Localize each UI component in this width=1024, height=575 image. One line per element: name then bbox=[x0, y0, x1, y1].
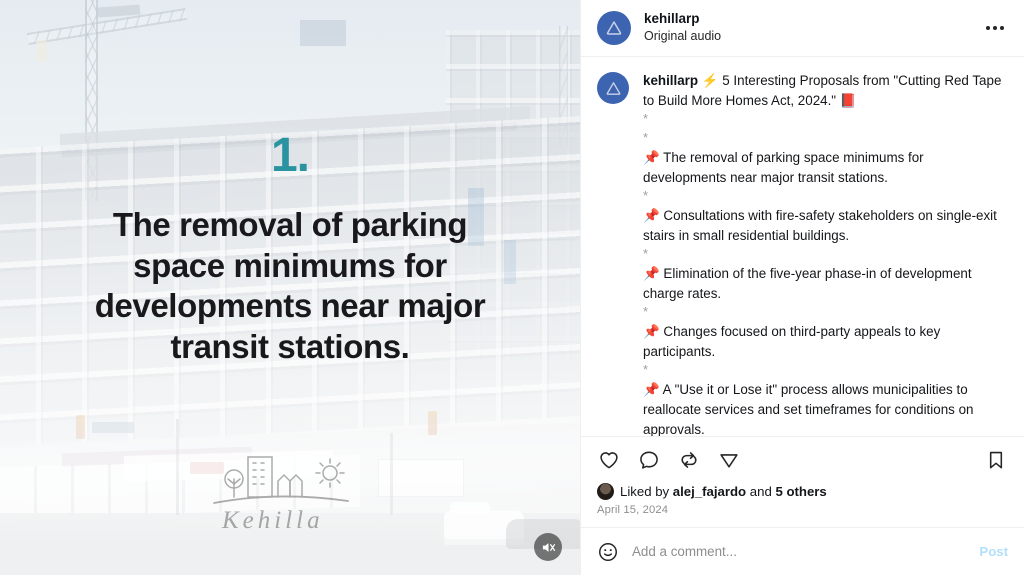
caption-row: kehillarp ⚡ 5 Interesting Proposals from… bbox=[597, 71, 1008, 436]
post-date: April 15, 2024 bbox=[597, 504, 1008, 516]
caption-bullet-2: 📌 Consultations with fire-safety stakeho… bbox=[643, 206, 1008, 245]
caption-bullet-5: 📌 A "Use it or Lose it" process allows m… bbox=[643, 380, 1008, 436]
likes-row: Liked by alej_fajardo and 5 others bbox=[597, 483, 1008, 500]
caption-bullet-1: 📌 The removal of parking space minimums … bbox=[643, 148, 1008, 187]
likes-conjunction: and bbox=[750, 484, 772, 499]
overlay-line-4: transit stations. bbox=[171, 328, 410, 365]
caption-bullet-3: 📌 Elimination of the five-year phase-in … bbox=[643, 264, 1008, 303]
caption-bullet-3-text: Elimination of the five-year phase-in of… bbox=[643, 266, 972, 301]
caption-sep-2: * bbox=[643, 129, 1008, 148]
post-media[interactable]: 1. The removal of parking space minimums… bbox=[0, 0, 580, 575]
post-header: kehillarp Original audio bbox=[581, 0, 1024, 57]
caption-sep-5: * bbox=[643, 303, 1008, 322]
speaker-muted-icon[interactable] bbox=[534, 533, 562, 561]
heart-icon[interactable] bbox=[597, 448, 621, 472]
caption-sep-3: * bbox=[643, 187, 1008, 206]
comment-composer: Post bbox=[581, 527, 1024, 575]
overlay-line-2: space minimums for bbox=[133, 247, 447, 284]
header-audio-label: Original audio bbox=[644, 29, 982, 45]
street-name-sign bbox=[92, 422, 134, 433]
header-text-block: kehillarp Original audio bbox=[644, 11, 982, 45]
caption-bullet-2-text: Consultations with fire-safety stakehold… bbox=[643, 208, 997, 243]
caption-intro-end-emoji: 📕 bbox=[840, 93, 857, 108]
overlay-line-3: developments near major bbox=[95, 287, 486, 324]
pin-icon-3: 📌 bbox=[643, 266, 660, 281]
overlay-line-1: The removal of parking bbox=[113, 206, 467, 243]
caption-text: kehillarp ⚡ 5 Interesting Proposals from… bbox=[643, 71, 1008, 436]
caption-username[interactable]: kehillarp bbox=[643, 73, 698, 88]
caption-intro-emoji: ⚡ bbox=[702, 73, 719, 88]
traffic-pole-right bbox=[390, 433, 393, 515]
caption-scroll-area[interactable]: kehillarp ⚡ 5 Interesting Proposals from… bbox=[581, 57, 1024, 436]
traffic-light-left bbox=[76, 415, 85, 439]
pin-icon-5: 📌 bbox=[643, 382, 660, 397]
pin-icon-1: 📌 bbox=[643, 150, 660, 165]
emoji-smiley-icon[interactable] bbox=[597, 541, 619, 563]
post-comment-button[interactable]: Post bbox=[979, 544, 1008, 559]
traffic-pole-left bbox=[176, 419, 179, 515]
overlay-number: 1. bbox=[0, 132, 580, 180]
caption-bullet-5-text: A "Use it or Lose it" process allows mun… bbox=[643, 382, 973, 436]
traffic-light-right bbox=[428, 411, 437, 435]
comment-bubble-icon[interactable] bbox=[637, 448, 661, 472]
action-icons bbox=[597, 448, 1008, 472]
caption-sep-1: * bbox=[643, 110, 1008, 129]
pin-icon-2: 📌 bbox=[643, 208, 660, 223]
bookmark-icon[interactable] bbox=[984, 448, 1008, 472]
more-options-icon[interactable] bbox=[982, 15, 1008, 41]
header-username[interactable]: kehillarp bbox=[644, 11, 982, 28]
caption-sep-4: * bbox=[643, 245, 1008, 264]
overlay-headline: The removal of parking space minimums fo… bbox=[42, 205, 538, 367]
caption-bullet-4-text: Changes focused on third-party appeals t… bbox=[643, 324, 940, 359]
caption-avatar-icon[interactable] bbox=[597, 72, 629, 104]
pin-icon-4: 📌 bbox=[643, 324, 660, 339]
post-side-panel: kehillarp Original audio kehillarp ⚡ 5 I… bbox=[580, 0, 1024, 575]
likes-username[interactable]: alej_fajardo bbox=[673, 484, 746, 499]
tarp-c bbox=[300, 20, 346, 46]
action-bar: Liked by alej_fajardo and 5 others April… bbox=[581, 436, 1024, 516]
caption-sep-6: * bbox=[643, 361, 1008, 380]
repost-icon[interactable] bbox=[677, 448, 701, 472]
share-paper-plane-icon[interactable] bbox=[717, 448, 741, 472]
instagram-post-view: 1. The removal of parking space minimums… bbox=[0, 0, 1024, 575]
comment-input[interactable] bbox=[632, 544, 979, 559]
caption-bullet-4: 📌 Changes focused on third-party appeals… bbox=[643, 322, 1008, 361]
likes-prefix: Liked by bbox=[620, 484, 669, 499]
crane-hook-block bbox=[36, 40, 47, 62]
caption-bullet-1-text: The removal of parking space minimums fo… bbox=[643, 150, 924, 185]
liker-avatar-icon[interactable] bbox=[597, 483, 614, 500]
triangle-avatar-icon[interactable] bbox=[597, 11, 631, 45]
storefront-logo bbox=[190, 462, 224, 474]
likes-others[interactable]: 5 others bbox=[775, 484, 826, 499]
